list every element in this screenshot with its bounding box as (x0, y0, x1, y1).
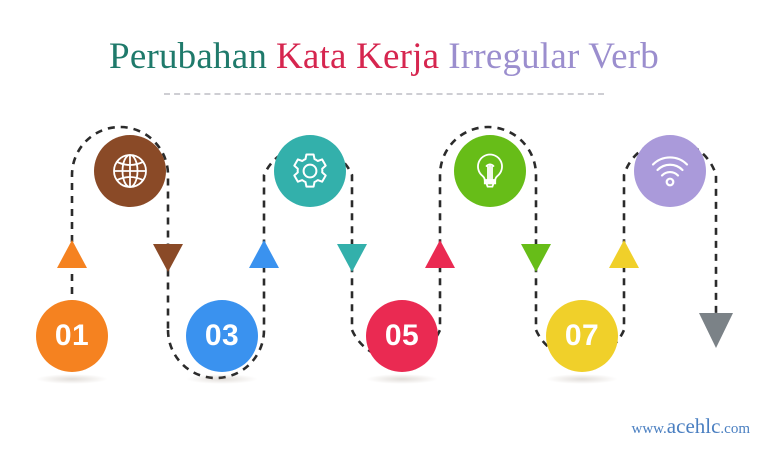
number-node-01[interactable]: 01 (36, 300, 108, 372)
footer-brand: acehlc (667, 414, 721, 438)
arrow-up-orange-icon (57, 240, 87, 268)
number-node-01-label: 01 (55, 321, 89, 351)
node-shadow (546, 374, 618, 384)
footer-prefix: www. (632, 421, 667, 437)
arrow-down-brown-icon (153, 244, 183, 272)
arrow-up-blue-icon (249, 240, 279, 268)
number-node-03-label: 03 (205, 321, 239, 351)
arrow-down-gray-icon (699, 313, 733, 348)
number-node-05[interactable]: 05 (366, 300, 438, 372)
footer-website[interactable]: www.acehlc.com (632, 414, 750, 439)
node-shadow (36, 374, 108, 384)
node-shadow (186, 374, 258, 384)
arrow-layer (0, 0, 768, 455)
number-node-07[interactable]: 07 (546, 300, 618, 372)
arrow-up-yellow-icon (609, 240, 639, 268)
node-shadow (366, 374, 438, 384)
number-node-07-label: 07 (565, 321, 599, 351)
footer-suffix: .com (720, 421, 750, 437)
arrow-down-teal-icon (337, 244, 367, 272)
arrow-up-crimson-icon (425, 240, 455, 268)
infographic-canvas: PerubahanKata KerjaIrregular Verb (0, 0, 768, 455)
number-node-03[interactable]: 03 (186, 300, 258, 372)
number-node-05-label: 05 (385, 321, 419, 351)
arrow-down-green-icon (521, 244, 551, 272)
